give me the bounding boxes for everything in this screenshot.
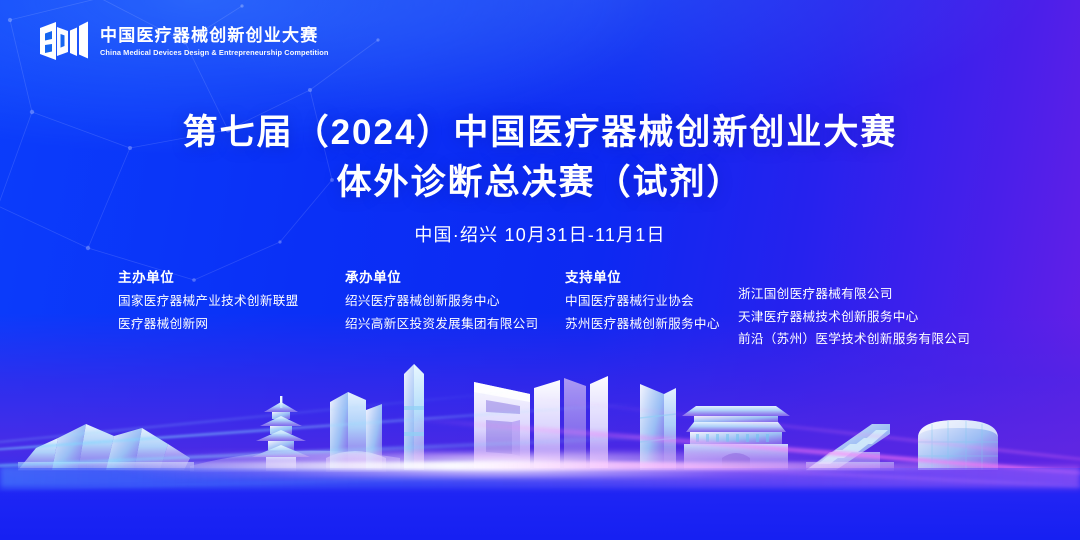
- undertaker-item: 绍兴高新区投资发展集团有限公司: [345, 318, 538, 331]
- host-item: 医疗器械创新网: [118, 318, 299, 331]
- horizon-highlight-line: [0, 462, 1080, 470]
- brand-name-cn: 中国医疗器械创新创业大赛: [100, 26, 329, 46]
- brand-logo: 中国医疗器械创新创业大赛 China Medical Devices Desig…: [38, 18, 329, 64]
- title-line-2: 体外诊断总决赛（试剂）: [0, 158, 1080, 208]
- title-line-1: 第七届（2024）中国医疗器械创新创业大赛: [0, 108, 1080, 158]
- host-heading: 主办单位: [118, 266, 299, 286]
- undertaker-heading: 承办单位: [345, 266, 538, 286]
- undertaker-item: 绍兴医疗器械创新服务中心: [345, 295, 538, 308]
- brand-name-en: China Medical Devices Design & Entrepren…: [100, 49, 329, 58]
- open-book-door-logo-icon: [38, 18, 90, 64]
- host-item: 国家医疗器械产业技术创新联盟: [118, 295, 299, 308]
- supporter-extra-item: 天津医疗器械技术创新服务中心: [738, 311, 970, 324]
- poster-title-block: 第七届（2024）中国医疗器械创新创业大赛 体外诊断总决赛（试剂） 中国·绍兴 …: [0, 108, 1080, 247]
- supporter-heading: 支持单位: [565, 266, 720, 286]
- event-location-date: 中国·绍兴 10月31日-11月1日: [0, 221, 1080, 247]
- supporter-item: 苏州医疗器械创新服务中心: [565, 318, 720, 331]
- poster-canvas: 中国医疗器械创新创业大赛 China Medical Devices Desig…: [0, 0, 1080, 540]
- supporter-extra-item: 浙江国创医疗器械有限公司: [738, 288, 970, 301]
- supporter-item: 中国医疗器械行业协会: [565, 295, 720, 308]
